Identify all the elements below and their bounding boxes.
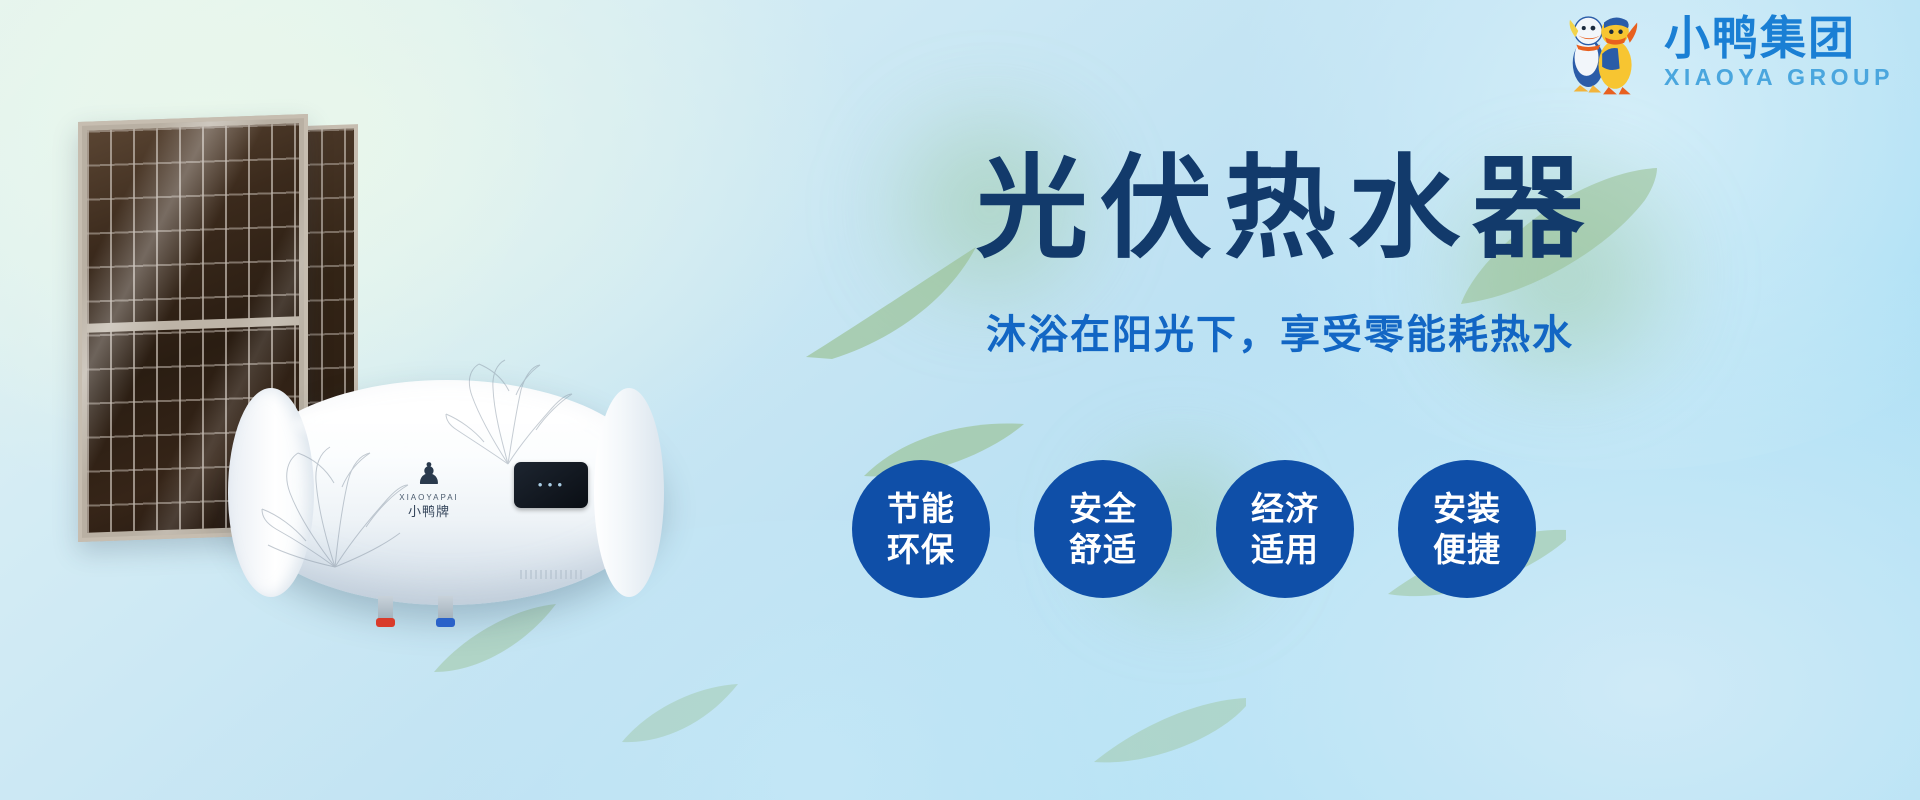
cold-water-inlet-cap: [436, 618, 455, 627]
water-heater-highlight: [292, 402, 592, 448]
water-heater-vent: [520, 570, 582, 579]
brand-glyph-icon: ♟: [396, 460, 462, 490]
brand-cn: 小鸭牌: [396, 505, 462, 518]
brand-logo[interactable]: 小鸭集团 XIAOYA GROUP: [1558, 6, 1894, 98]
leaf-icon-bottom-c: [1090, 690, 1250, 770]
feature-badge-easy-installation[interactable]: 安装 便捷: [1398, 460, 1536, 598]
badge-line-2: 适用: [1251, 529, 1319, 570]
feature-badge-list: 节能 环保 安全 舒适 经济 适用 安装 便捷: [852, 460, 1536, 598]
badge-line-1: 安装: [1433, 488, 1501, 529]
leaf-icon-bottom-b: [620, 680, 740, 750]
display-value: •••: [536, 478, 565, 493]
water-heater-product: ♟ XIAOYAPAI 小鸭牌 •••: [232, 380, 662, 605]
water-heater-brand-mark: ♟ XIAOYAPAI 小鸭牌: [396, 460, 462, 518]
page-subtitle: 沐浴在阳光下，享受零能耗热水: [880, 302, 1680, 360]
brand-name-cn: 小鸭集团: [1664, 15, 1894, 61]
badge-line-1: 节能: [887, 488, 955, 529]
feature-badge-economical-practical[interactable]: 经济 适用: [1216, 460, 1354, 598]
water-heater-right-cap: [594, 388, 664, 597]
brand-name-en: XIAOYA GROUP: [1664, 66, 1894, 89]
feature-badge-energy-saving-eco[interactable]: 节能 环保: [852, 460, 990, 598]
hero-copy: 光伏热水器 沐浴在阳光下，享受零能耗热水: [880, 150, 1680, 360]
badge-line-2: 环保: [887, 529, 955, 570]
page-title: 光伏热水器: [880, 150, 1680, 268]
water-heater-control-display[interactable]: •••: [514, 462, 588, 508]
hot-water-outlet-cap: [376, 618, 395, 627]
badge-line-1: 经济: [1251, 488, 1319, 529]
badge-line-2: 便捷: [1433, 529, 1501, 570]
promo-banner: ♟ XIAOYAPAI 小鸭牌 •••: [0, 0, 1920, 800]
badge-line-2: 舒适: [1069, 529, 1137, 570]
feature-badge-safe-comfortable[interactable]: 安全 舒适: [1034, 460, 1172, 598]
brand-pinyin: XIAOYAPAI: [396, 494, 462, 502]
badge-line-1: 安全: [1069, 488, 1137, 529]
two-ducks-mascot-icon: [1558, 6, 1650, 98]
